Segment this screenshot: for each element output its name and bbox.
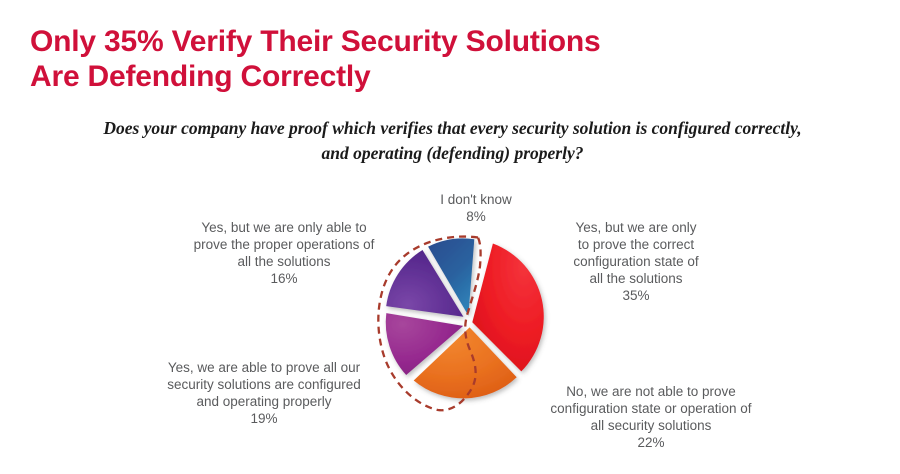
pie-chart: I don't know 8% Yes, but we are only to …	[0, 175, 900, 465]
pie-label-both-line-1: Yes, we are able to prove all our	[148, 359, 380, 376]
pie-label-config-only-line-3: configuration state of	[536, 253, 736, 270]
page-title-line-2: Are Defending Correctly	[30, 59, 730, 94]
survey-question-line-2: and operating (defending) properly?	[30, 141, 875, 166]
survey-question-line-1: Does your company have proof which verif…	[30, 116, 875, 141]
infographic-slide: Only 35% Verify Their Security Solutions…	[0, 0, 900, 474]
pie-label-operations-only-line-2: prove the proper operations of	[178, 236, 390, 253]
survey-question: Does your company have proof which verif…	[30, 116, 875, 166]
pie-label-both: Yes, we are able to prove all our securi…	[148, 359, 380, 427]
page-title-line-1: Only 35% Verify Their Security Solutions	[30, 24, 730, 59]
page-title: Only 35% Verify Their Security Solutions…	[30, 24, 730, 94]
pie-label-config-only: Yes, but we are only to prove the correc…	[536, 219, 736, 304]
pie-label-no-line-2: configuration state or operation of	[538, 400, 764, 417]
pie-label-operations-only-line-3: all the solutions	[178, 253, 390, 270]
pie-label-no-line-1: No, we are not able to prove	[538, 383, 764, 400]
pie-label-config-only-line-4: all the solutions	[536, 270, 736, 287]
pie-label-config-only-line-1: Yes, but we are only	[536, 219, 736, 236]
pie-label-dont-know: I don't know 8%	[396, 191, 556, 225]
pie-label-both-line-3: and operating properly	[148, 393, 380, 410]
pie-label-no-percent: 22%	[538, 434, 764, 451]
pie-label-both-percent: 19%	[148, 410, 380, 427]
pie-label-operations-only-percent: 16%	[178, 270, 390, 287]
pie-label-no: No, we are not able to prove configurati…	[538, 383, 764, 451]
pie-label-config-only-line-2: to prove the correct	[536, 236, 736, 253]
pie-label-no-line-3: all security solutions	[538, 417, 764, 434]
pie-label-dont-know-percent: 8%	[396, 208, 556, 225]
pie-label-both-line-2: security solutions are configured	[148, 376, 380, 393]
pie-label-dont-know-line-1: I don't know	[396, 191, 556, 208]
pie-label-operations-only: Yes, but we are only able to prove the p…	[178, 219, 390, 287]
pie-label-config-only-percent: 35%	[536, 287, 736, 304]
pie-label-operations-only-line-1: Yes, but we are only able to	[178, 219, 390, 236]
